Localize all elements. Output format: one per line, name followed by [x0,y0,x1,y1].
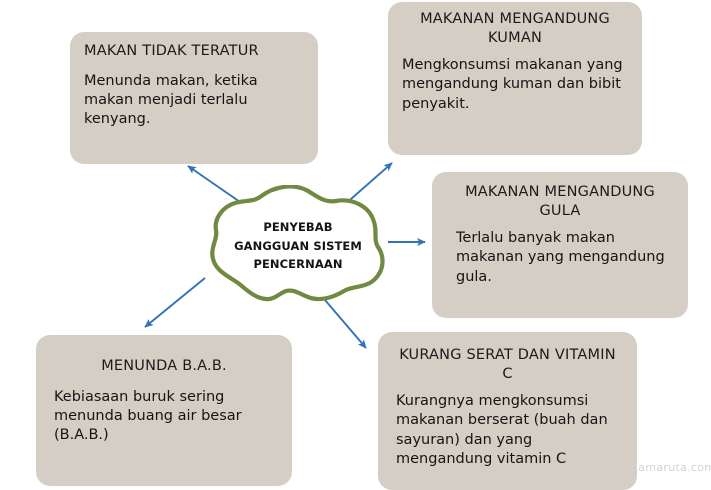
node-card-menunda-bab[interactable]: MENUNDA B.A.B. Kebiasaan buruk sering me… [36,335,292,486]
node-body: Terlalu banyak makan makanan yang mengan… [446,229,674,287]
blob-outline [212,186,382,299]
node-body: Kebiasaan buruk sering menunda buang air… [50,388,278,446]
node-title: MAKANAN MENGANDUNG GULA [446,183,674,220]
diagram-canvas: PENYEBAB GANGGUAN SISTEM PENCERNAAN MAKA… [0,0,711,490]
node-body: Mengkonsumsi makanan yang mengandung kum… [402,56,628,114]
node-body: Kurangnya mengkonsumsi makanan berserat … [392,392,623,469]
node-title: MAKANAN MENGANDUNG KUMAN [402,10,628,47]
node-card-makanan-mengandung-kuman[interactable]: MAKANAN MENGANDUNG KUMAN Mengkonsumsi ma… [388,2,642,155]
node-title: MAKAN TIDAK TERATUR [82,42,304,61]
node-title: MENUNDA B.A.B. [50,357,278,376]
node-title: KURANG SERAT DAN VITAMIN C [392,346,623,383]
arrow-to-menunda-bab [145,278,205,327]
node-card-makan-tidak-teratur[interactable]: MAKAN TIDAK TERATUR Menunda makan, ketik… [70,32,318,164]
node-card-makanan-mengandung-gula[interactable]: MAKANAN MENGANDUNG GULA Terlalu banyak m… [432,172,688,318]
watermark-text: damaruta.com [631,461,711,474]
node-card-kurang-serat-vitamin-c[interactable]: KURANG SERAT DAN VITAMIN C Kurangnya men… [378,332,637,490]
center-node-shape[interactable] [198,185,398,313]
node-body: Menunda makan, ketika makan menjadi terl… [82,72,304,130]
